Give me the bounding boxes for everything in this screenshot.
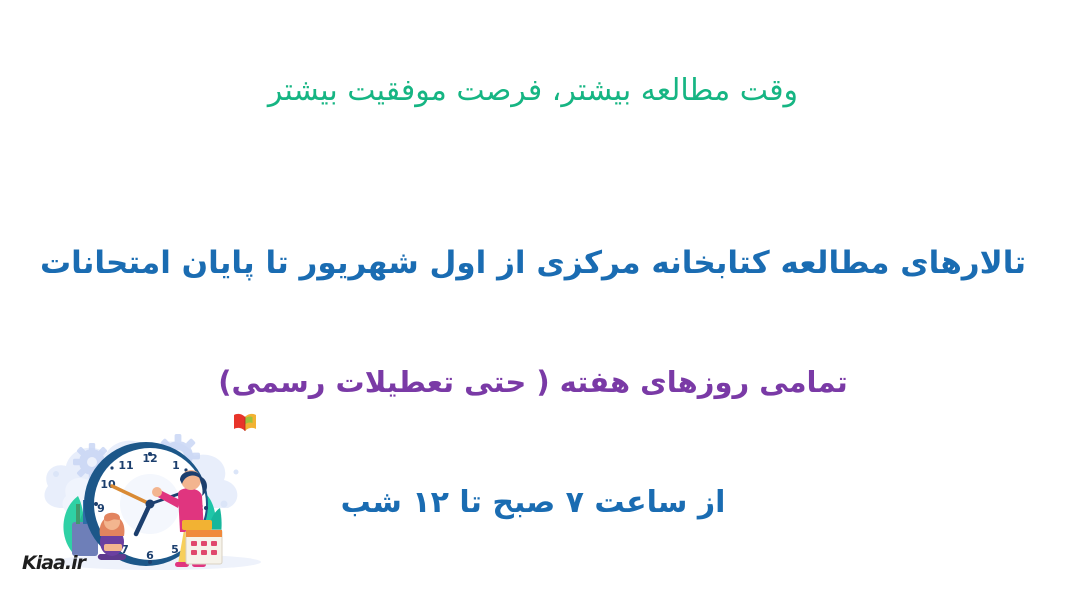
site-watermark: Kiaa.ir: [22, 552, 85, 574]
announcement-text-block: وقت مطالعه بیشتر، فرصت موفقیت بیشتر تالا…: [0, 0, 1066, 600]
days-of-week-text: تمامی روزهای هفته ( حتی تعطیلات رسمی): [0, 364, 1066, 400]
opening-hours-text: از ساعت ۷ صبح تا ۱۲ شب: [0, 484, 1066, 522]
open-book-icon: [232, 412, 258, 434]
slogan-text: وقت مطالعه بیشتر، فرصت موفقیت بیشتر: [0, 72, 1066, 110]
main-announcement-text: تالارهای مطالعه کتابخانه مرکزی از اول شه…: [0, 244, 1066, 283]
announcement-poster: وقت مطالعه بیشتر، فرصت موفقیت بیشتر تالا…: [0, 0, 1066, 600]
